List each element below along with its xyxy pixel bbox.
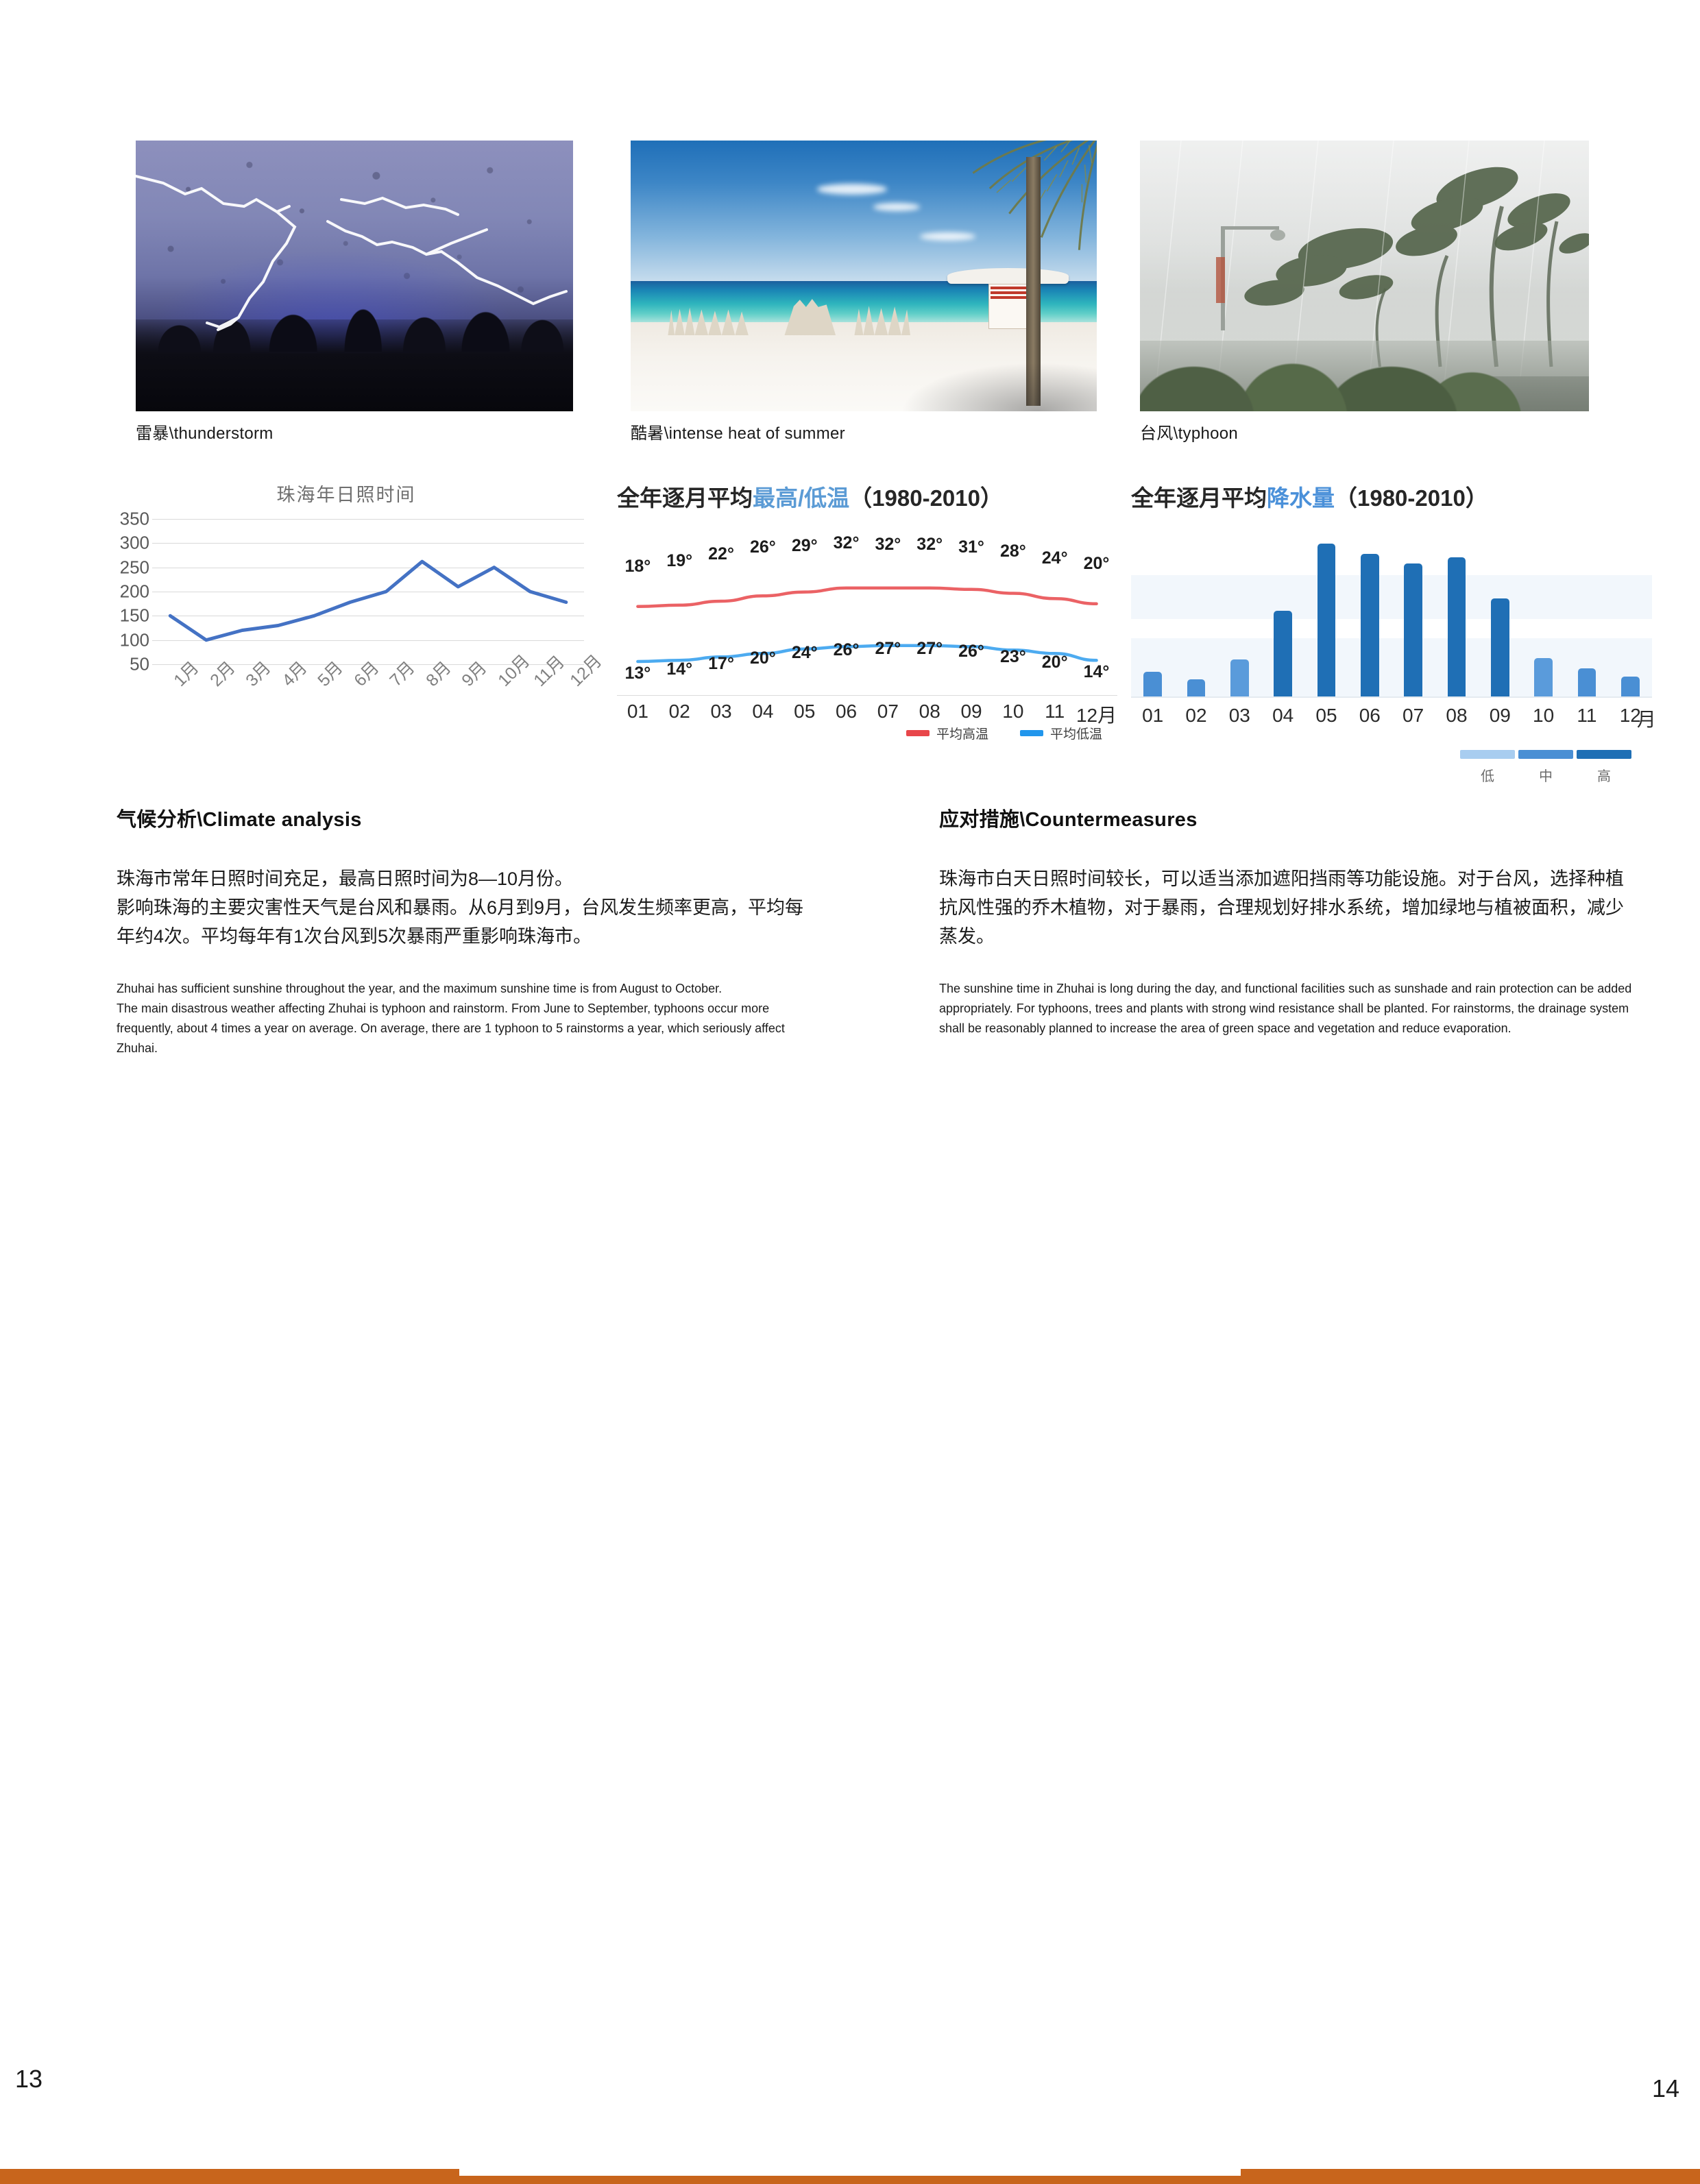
month-label: 03 — [1218, 705, 1261, 727]
y-tick-label: 350 — [120, 509, 149, 530]
sunshine-x-axis-labels: 1月2月3月4月5月6月7月8月9月10月11月12月 — [152, 668, 584, 723]
rainfall-bar — [1621, 677, 1640, 698]
month-label: 08 — [909, 701, 951, 728]
month-label: 07 — [867, 701, 909, 728]
climate-analysis-chinese: 珠海市常年日照时间充足，最高日照时间为8—10月份。 影响珠海的主要灾害性天气是… — [117, 865, 816, 951]
climate-analysis-block: 气候分析\Climate analysis 珠海市常年日照时间充足，最高日照时间… — [117, 803, 816, 1058]
bar-slot — [1348, 540, 1392, 698]
slide-page: 雷暴\thunderstorm — [0, 0, 1700, 1202]
bar-slot — [1392, 540, 1435, 698]
rainfall-bar — [1491, 598, 1509, 698]
low-temp-label: 17° — [701, 654, 742, 674]
title-suffix: （1980-2010） — [1335, 485, 1488, 511]
thunderstorm-photo-cell: 雷暴\thunderstorm — [136, 141, 573, 444]
low-temp-value-labels: 13°14°17°20°24°26°27°27°26°23°20°14° — [617, 639, 1117, 659]
month-label: 08 — [1435, 705, 1478, 727]
title-prefix: 全年逐月平均 — [1131, 485, 1267, 511]
month-label: 10 — [1522, 705, 1565, 727]
foreground-foliage — [1140, 341, 1589, 411]
typhoon-photo-cell: 台风\typhoon — [1140, 141, 1589, 444]
temperature-line-series — [617, 536, 1117, 714]
temperature-chart-title: 全年逐月平均最高/低温（1980-2010） — [617, 480, 1117, 513]
countermeasures-english: The sunshine time in Zhuhai is long duri… — [939, 979, 1638, 1039]
rainfall-plot — [1131, 540, 1652, 698]
rainfall-bar — [1143, 672, 1162, 698]
bar-slot — [1174, 540, 1217, 698]
low-temp-label: 26° — [825, 640, 867, 660]
bar-slot — [1522, 540, 1565, 698]
month-label: 04 — [742, 701, 784, 728]
sunshine-y-axis-labels: 35030025020015010050 — [103, 519, 149, 664]
rainfall-color-scale — [1460, 750, 1631, 759]
sunshine-plot: 35030025020015010050 1月2月3月4月5月6月7月8月9月1… — [103, 519, 590, 690]
low-temp-label: 20° — [742, 648, 784, 668]
countermeasures-heading: 应对措施\Countermeasures — [939, 803, 1638, 832]
lightning-bolt-icon — [136, 141, 573, 411]
photo-caption: 台风\typhoon — [1140, 420, 1589, 444]
rainfall-chart-title: 全年逐月平均降水量（1980-2010） — [1131, 480, 1652, 513]
low-temp-label: 26° — [951, 642, 993, 662]
sunshine-chart: 珠海年日照时间 35030025020015010050 1月2月3月4月5月6… — [103, 480, 590, 737]
climate-analysis-english: Zhuhai has sufficient sunshine throughou… — [117, 979, 816, 1059]
intense-heat-photo-cell: 酷暑\intense heat of summer — [631, 141, 1097, 444]
low-temp-label: 13° — [617, 664, 659, 683]
palm-fronds — [892, 141, 1097, 292]
en-line-2: The main disastrous weather affecting Zh… — [117, 999, 816, 1058]
month-label: 06 — [825, 701, 867, 728]
bar-slot — [1261, 540, 1304, 698]
countermeasures-chinese: 珠海市白天日照时间较长，可以适当添加遮阳挡雨等功能设施。对于台风，选择种植抗风性… — [939, 865, 1638, 951]
sunshine-chart-title: 珠海年日照时间 — [103, 480, 590, 507]
photo-row: 雷暴\thunderstorm — [136, 141, 1589, 298]
bar-slot — [1479, 540, 1522, 698]
month-label: 05 — [1304, 705, 1348, 727]
month-label: 11 — [1565, 705, 1608, 727]
footer-accent-bar-right — [1241, 2169, 1700, 2184]
rainfall-bar — [1187, 679, 1206, 698]
temperature-month-labels: 010203040506070809101112月 — [617, 701, 1117, 728]
low-temp-label: 14° — [1076, 662, 1117, 682]
y-tick-label: 300 — [120, 533, 149, 554]
footer-accent-bar-left — [0, 2169, 459, 2184]
page-number-left: 13 — [15, 2065, 42, 2094]
month-label: 12月 — [1076, 701, 1117, 728]
en-line-1: Zhuhai has sufficient sunshine throughou… — [117, 979, 816, 999]
rainfall-bars — [1131, 540, 1652, 698]
scale-swatch — [1577, 750, 1631, 759]
y-tick-label: 250 — [120, 557, 149, 578]
rainfall-bar — [1534, 658, 1553, 698]
month-label: 12月 — [1609, 705, 1652, 727]
rainfall-bar — [1361, 554, 1379, 698]
temperature-axis-line — [617, 695, 1117, 696]
climate-analysis-heading: 气候分析\Climate analysis — [117, 803, 816, 832]
legend-swatch — [906, 730, 930, 736]
rainfall-bar — [1230, 659, 1249, 698]
month-label: 09 — [1479, 705, 1522, 727]
sunshine-line-series — [152, 519, 584, 664]
month-label: 02 — [1174, 705, 1217, 727]
y-tick-label: 200 — [120, 581, 149, 603]
y-tick-label: 150 — [120, 605, 149, 627]
palm-shadow — [901, 363, 1097, 411]
month-label: 06 — [1348, 705, 1392, 727]
bar-slot — [1304, 540, 1348, 698]
bar-slot — [1435, 540, 1478, 698]
cloud — [817, 184, 887, 195]
scale-label: 高 — [1577, 765, 1631, 785]
low-temp-label: 27° — [909, 639, 951, 659]
scale-label: 低 — [1460, 765, 1515, 785]
rainfall-bar — [1578, 668, 1596, 698]
rainfall-scale-labels: 低中高 — [1460, 765, 1631, 785]
temperature-plot: 18°19°22°26°29°32°32°32°31°28°24°20° 13°… — [617, 536, 1117, 714]
rainfall-month-labels: 010203040506070809101112月 — [1131, 705, 1652, 727]
title-highlight: 最高/低温 — [753, 485, 849, 511]
month-label: 01 — [617, 701, 659, 728]
footer: 13 14 — [0, 1056, 1700, 1202]
scale-swatch — [1460, 750, 1515, 759]
page-number-right: 14 — [1652, 2074, 1679, 2103]
typhoon-photo — [1140, 141, 1589, 411]
bar-slot — [1131, 540, 1174, 698]
month-label: 04 — [1261, 705, 1304, 727]
low-temp-label: 23° — [992, 647, 1034, 667]
rainfall-bar — [1404, 563, 1422, 698]
month-label: 05 — [784, 701, 825, 728]
rainfall-bar — [1317, 544, 1336, 698]
bar-slot — [1218, 540, 1261, 698]
rainfall-legend: 低中高 — [1131, 750, 1652, 785]
low-temp-label: 20° — [1034, 653, 1076, 672]
street-lamp-arm — [1221, 226, 1279, 230]
low-temp-label: 24° — [784, 643, 825, 663]
month-label: 10 — [992, 701, 1034, 728]
cn-line-2: 影响珠海的主要灾害性天气是台风和暴雨。从6月到9月，台风发生频率更高，平均每年约… — [117, 894, 816, 951]
red-banner — [1216, 257, 1225, 303]
title-highlight: 降水量 — [1267, 485, 1335, 511]
y-tick-label: 50 — [130, 654, 149, 675]
month-label: 09 — [951, 701, 993, 728]
footer-accent-bar-middle — [459, 2176, 1241, 2184]
month-label: 03 — [701, 701, 742, 728]
rainfall-baseline — [1131, 696, 1652, 698]
bar-slot — [1609, 540, 1652, 698]
cn-line-1: 珠海市常年日照时间充足，最高日照时间为8—10月份。 — [117, 865, 816, 894]
month-label: 11 — [1034, 701, 1076, 728]
intense-heat-photo — [631, 141, 1097, 411]
legend-swatch — [1020, 730, 1043, 736]
title-suffix: （1980-2010） — [849, 485, 1003, 511]
month-unit-label: 月 — [1637, 705, 1656, 732]
street-lamp-head — [1270, 230, 1285, 241]
month-label: 01 — [1131, 705, 1174, 727]
temperature-chart: 全年逐月平均最高/低温（1980-2010） 18°19°22°26°29°32… — [617, 480, 1117, 754]
rainfall-bar — [1448, 557, 1466, 698]
rainfall-chart: 全年逐月平均降水量（1980-2010） 0102030405060708091… — [1131, 480, 1652, 768]
thunderstorm-photo — [136, 141, 573, 411]
low-temp-label: 27° — [867, 639, 909, 659]
bar-slot — [1565, 540, 1608, 698]
photo-caption: 雷暴\thunderstorm — [136, 420, 573, 444]
scale-swatch — [1518, 750, 1573, 759]
countermeasures-block: 应对措施\Countermeasures 珠海市白天日照时间较长，可以适当添加遮… — [939, 803, 1638, 1039]
month-label: 07 — [1392, 705, 1435, 727]
low-temp-label: 14° — [659, 659, 701, 679]
rainfall-bar — [1274, 611, 1292, 698]
scale-label: 中 — [1518, 765, 1573, 785]
month-label: 02 — [659, 701, 701, 728]
photo-caption: 酷暑\intense heat of summer — [631, 420, 1097, 444]
title-prefix: 全年逐月平均 — [617, 485, 753, 511]
y-tick-label: 100 — [120, 629, 149, 651]
